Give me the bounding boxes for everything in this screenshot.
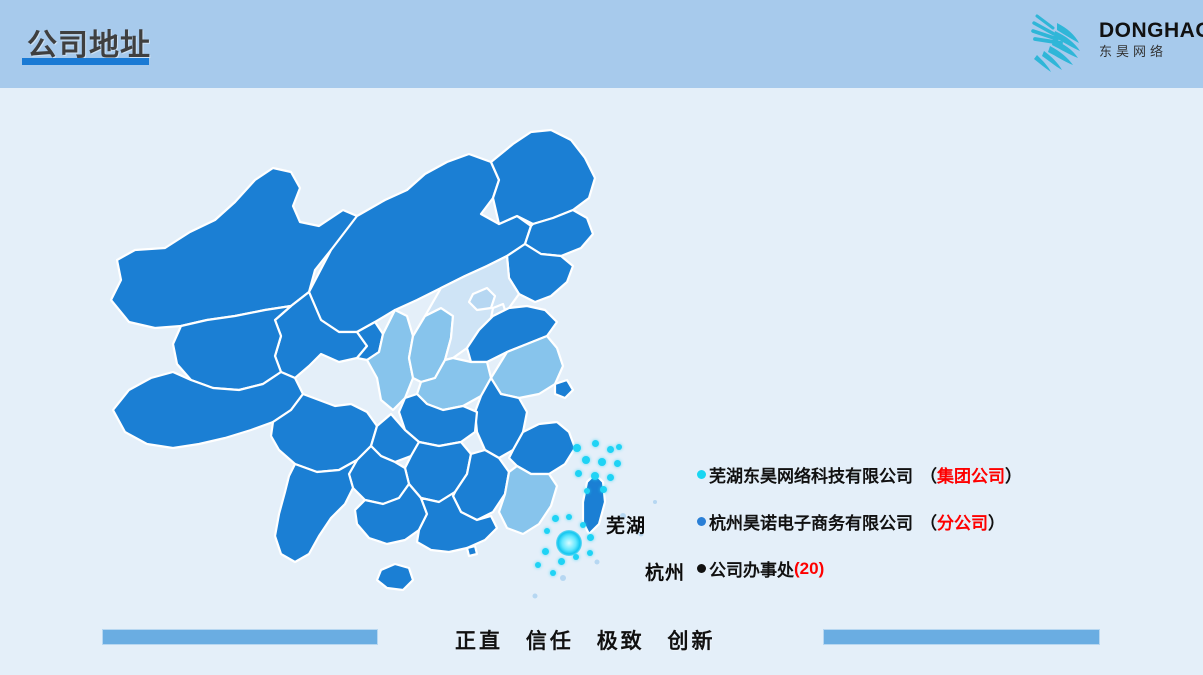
legend-company-name: 公司办事处 [709, 556, 794, 581]
marker-headquarters-wuhu[interactable] [556, 530, 582, 556]
legend-company-name: 杭州昊诺电子商务有限公司 [709, 509, 913, 534]
legend-close-paren: ） [1005, 462, 1022, 487]
company-logo: DONGHAO 东昊网络 [1021, 6, 1191, 78]
office-dot[interactable] [614, 460, 621, 467]
office-dot[interactable] [573, 554, 579, 560]
slogan-word: 正直 [455, 630, 503, 653]
province-taiwan [583, 474, 605, 534]
office-dot[interactable] [616, 444, 622, 450]
office-dot[interactable] [552, 515, 559, 522]
office-dot[interactable] [558, 558, 565, 565]
office-dot[interactable] [587, 550, 593, 556]
office-dot[interactable] [542, 548, 549, 555]
office-dot[interactable] [544, 528, 550, 534]
legend-bullet-icon [697, 470, 706, 479]
legend-bullet-icon [697, 564, 706, 573]
footer-decoration-bar-right [823, 629, 1100, 645]
city-label-hangzhou: 杭州 [645, 558, 685, 585]
legend-tag: 分公司 [937, 509, 988, 534]
title-underline [22, 58, 149, 65]
feather-fan-logo-icon [1023, 8, 1095, 74]
legend-close-paren: ） [988, 509, 1005, 534]
city-label-wuhu: 芜湖 [606, 511, 646, 538]
region-hongkong [467, 546, 477, 556]
legend-bullet-icon [697, 517, 706, 526]
logo-chinese-name: 东昊网络 [1099, 43, 1191, 61]
office-dot[interactable] [573, 444, 581, 452]
municipality-shanghai [555, 380, 573, 398]
office-dot[interactable] [587, 534, 594, 541]
office-dot[interactable] [580, 522, 586, 528]
legend-tag: 20 [800, 559, 819, 579]
province-hainan [377, 564, 413, 590]
legend-tag: 集团公司 [937, 462, 1005, 487]
logo-english-name: DONGHAO [1099, 20, 1191, 42]
office-dot[interactable] [550, 570, 556, 576]
office-dot[interactable] [566, 514, 572, 520]
office-dot[interactable] [607, 474, 614, 481]
slogan-word: 创新 [668, 630, 716, 653]
province-heilongjiang [491, 130, 595, 224]
office-dot[interactable] [600, 486, 607, 493]
slogan-word: 极致 [597, 630, 645, 653]
legend-close-paren: ) [819, 559, 825, 579]
office-dot[interactable] [584, 488, 590, 494]
china-map: 芜湖 杭州 [95, 110, 715, 620]
office-dot[interactable] [582, 456, 590, 464]
legend: 芜湖东昊网络科技有限公司 （ 集团公司 ） 杭州昊诺电子商务有限公司 （ 分公司… [697, 462, 1117, 603]
legend-open-paren: （ [920, 462, 937, 487]
legend-company-name: 芜湖东昊网络科技有限公司 [709, 462, 913, 487]
office-dot[interactable] [575, 470, 582, 477]
office-dot[interactable] [607, 446, 614, 453]
office-dot[interactable] [591, 472, 599, 480]
footer-decoration-bar-left [102, 629, 378, 645]
slogan-word: 信任 [526, 630, 574, 653]
office-dot[interactable] [535, 562, 541, 568]
legend-item-offices: 公司办事处 ( 20 ) [697, 556, 1117, 581]
province-yunnan [275, 460, 357, 562]
legend-open-paren: （ [920, 509, 937, 534]
office-dot[interactable] [592, 440, 599, 447]
office-dot[interactable] [598, 458, 606, 466]
legend-item-group-company: 芜湖东昊网络科技有限公司 （ 集团公司 ） [697, 462, 1117, 487]
logo-text: DONGHAO 东昊网络 [1099, 20, 1191, 61]
footer-slogan: 正直 信任 极致 创新 [455, 625, 716, 655]
province-fujian [499, 466, 557, 534]
legend-item-branch-company: 杭州昊诺电子商务有限公司 （ 分公司 ） [697, 509, 1117, 534]
page-header: 公司地址 DONGHAO [0, 0, 1203, 88]
